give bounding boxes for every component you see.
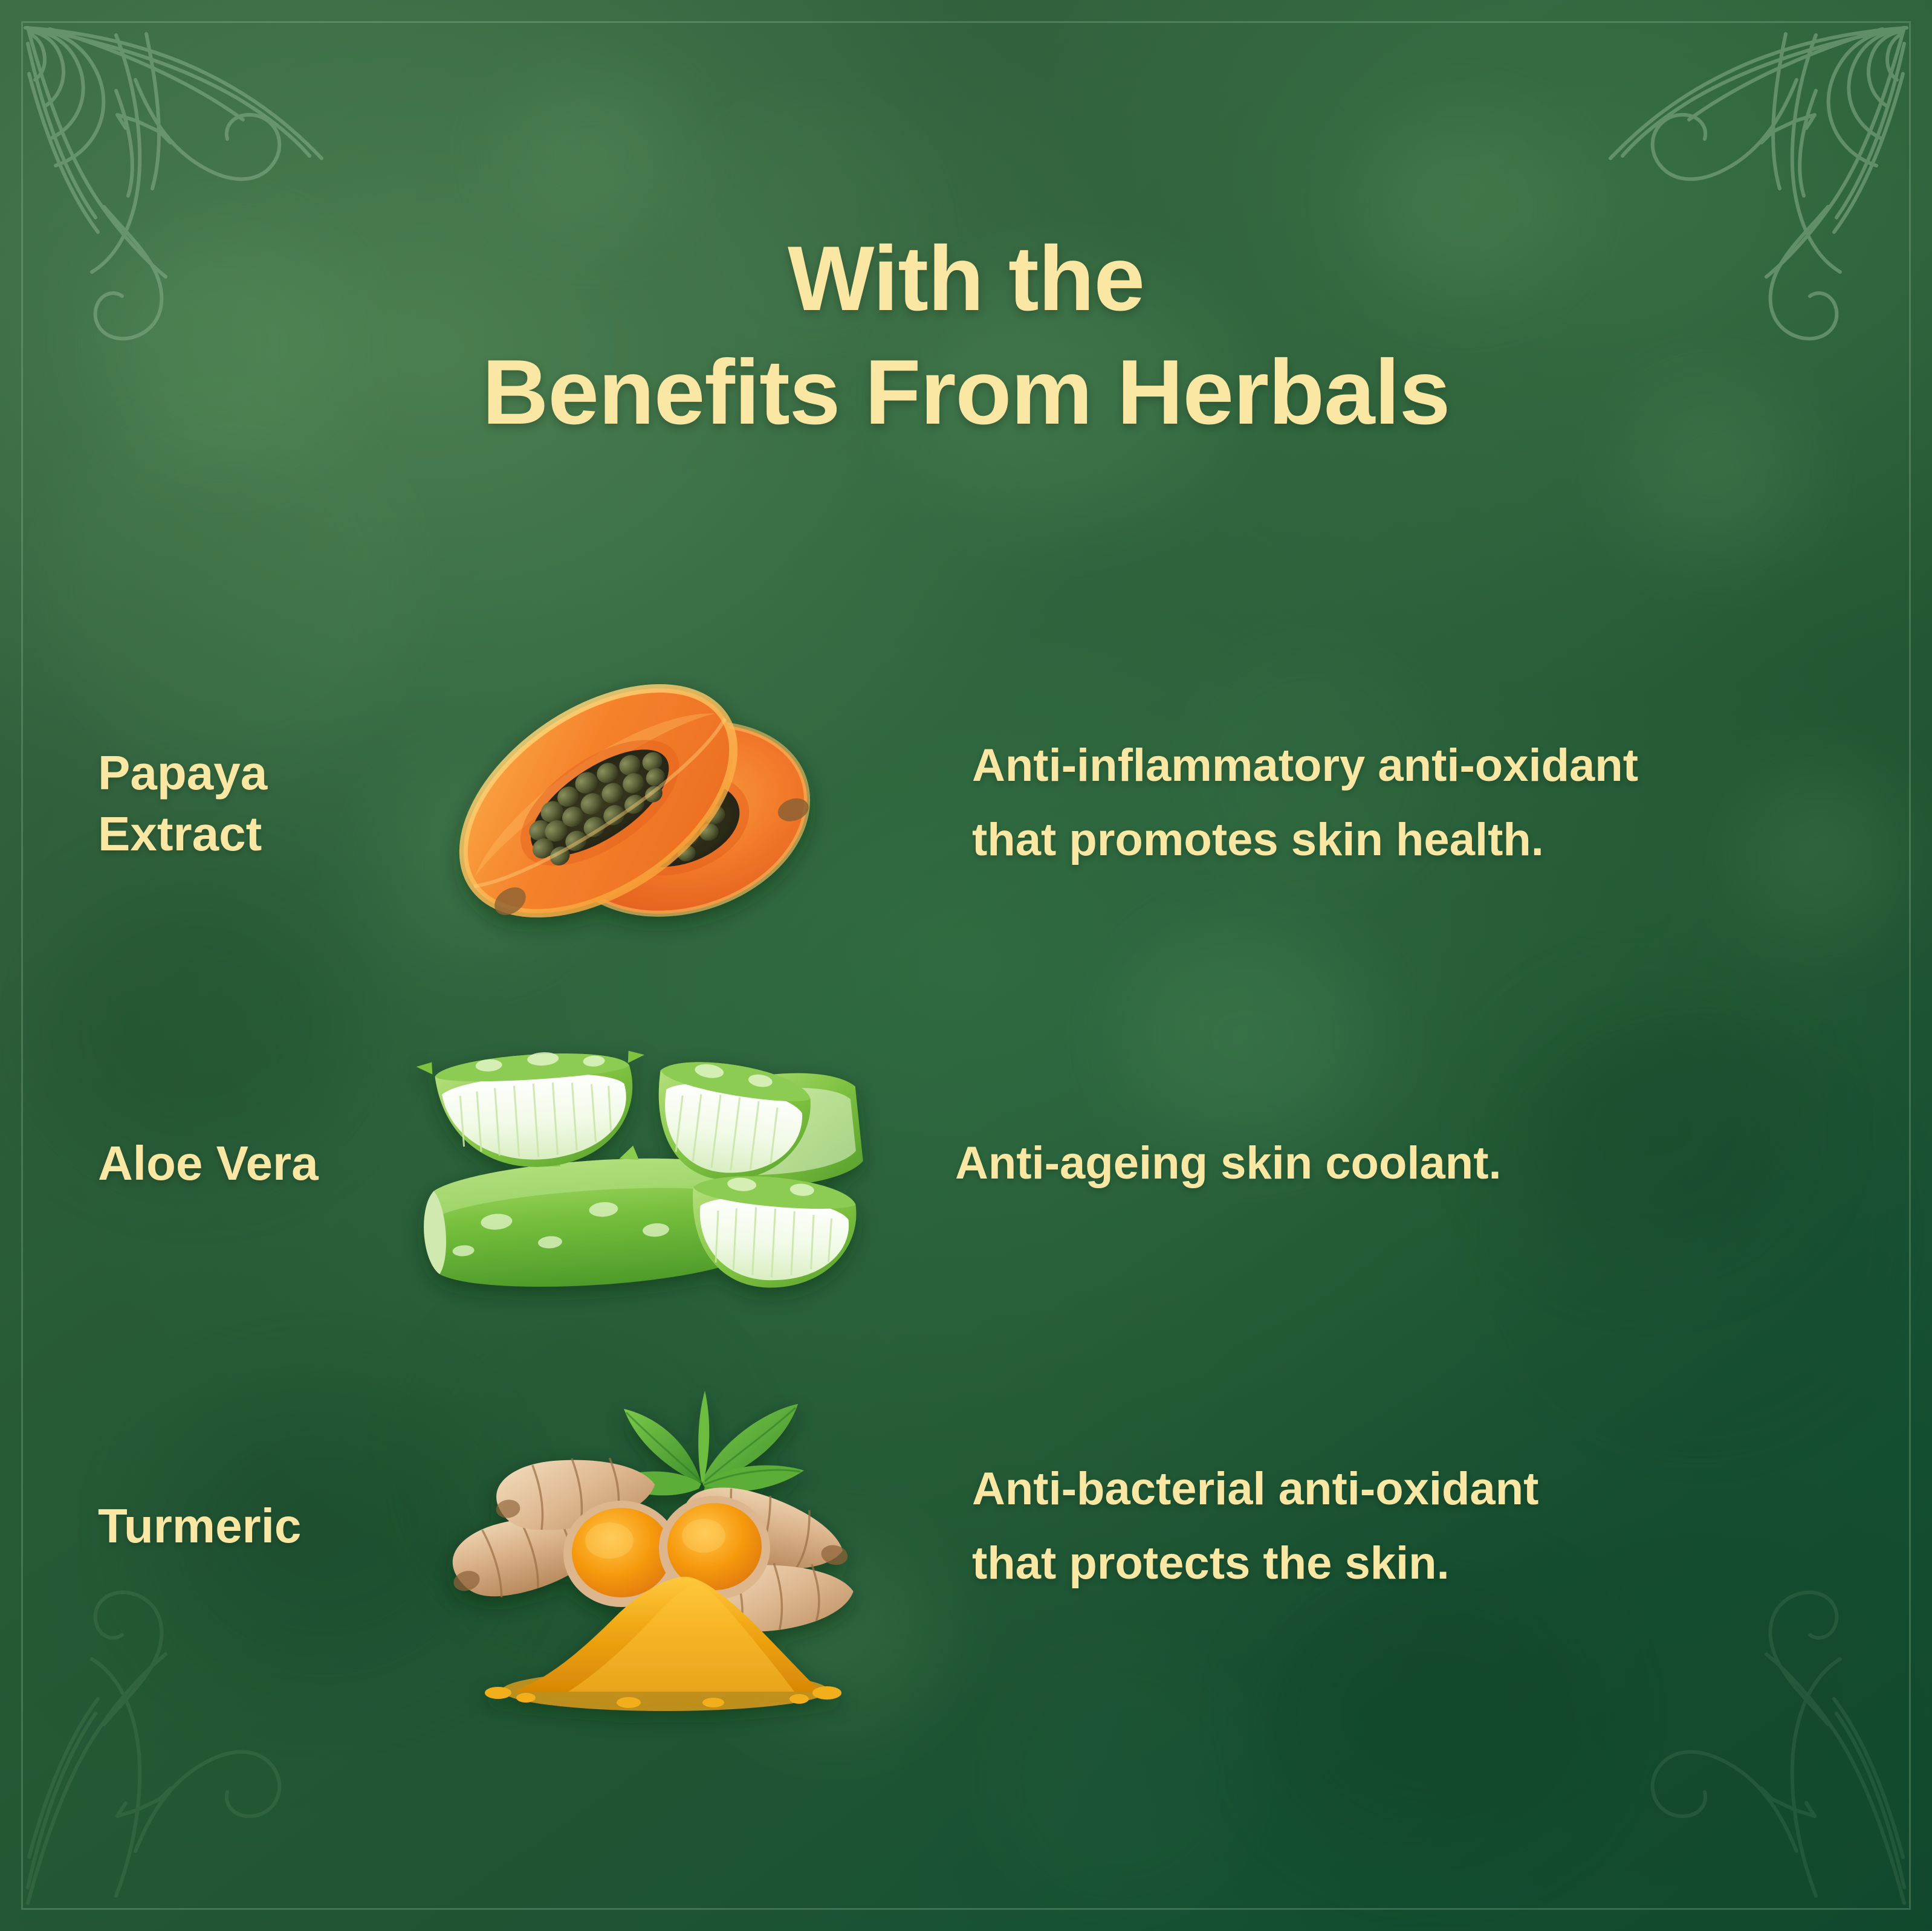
description-line-2: that promotes skin health. xyxy=(972,803,1859,877)
ingredient-description-turmeric: Anti-bacterial anti-oxidant that protect… xyxy=(919,1452,1932,1600)
title-line-1: With the xyxy=(0,233,1932,325)
ingredient-name-line-2: Extract xyxy=(98,804,399,865)
benefit-row-turmeric: Turmeric xyxy=(0,1345,1932,1707)
description-line-1: Anti-ageing skin coolant. xyxy=(955,1126,1859,1200)
description-line-1: Anti-bacterial anti-oxidant xyxy=(972,1452,1859,1526)
benefits-list: Papaya Extract xyxy=(0,619,1932,1707)
aloe-vera-slices-image xyxy=(382,982,902,1345)
ingredient-name-turmeric: Turmeric xyxy=(0,1496,399,1557)
ingredient-name-line-1: Papaya xyxy=(98,743,399,804)
ingredient-name-line-1: Turmeric xyxy=(98,1496,399,1557)
description-line-1: Anti-inflammatory anti-oxidant xyxy=(972,728,1859,803)
ingredient-name-papaya: Papaya Extract xyxy=(0,737,399,865)
ingredient-description-papaya: Anti-inflammatory anti-oxidant that prom… xyxy=(919,725,1932,877)
page-title: With the Benefits From Herbals xyxy=(0,233,1932,438)
herbal-benefits-poster: With the Benefits From Herbals Papaya Ex… xyxy=(0,0,1932,1931)
ingredient-name-aloe-vera: Aloe Vera xyxy=(0,1133,399,1194)
benefit-row-aloe-vera: Aloe Vera xyxy=(0,982,1932,1345)
benefit-row-papaya: Papaya Extract xyxy=(0,619,1932,982)
description-line-2: that protects the skin. xyxy=(972,1526,1859,1600)
title-line-2: Benefits From Herbals xyxy=(0,346,1932,438)
ingredient-name-line-1: Aloe Vera xyxy=(98,1133,399,1194)
ingredient-description-aloe-vera: Anti-ageing skin coolant. xyxy=(919,1126,1932,1200)
papaya-halves-image xyxy=(399,619,919,982)
turmeric-root-and-powder-image xyxy=(375,1356,895,1718)
